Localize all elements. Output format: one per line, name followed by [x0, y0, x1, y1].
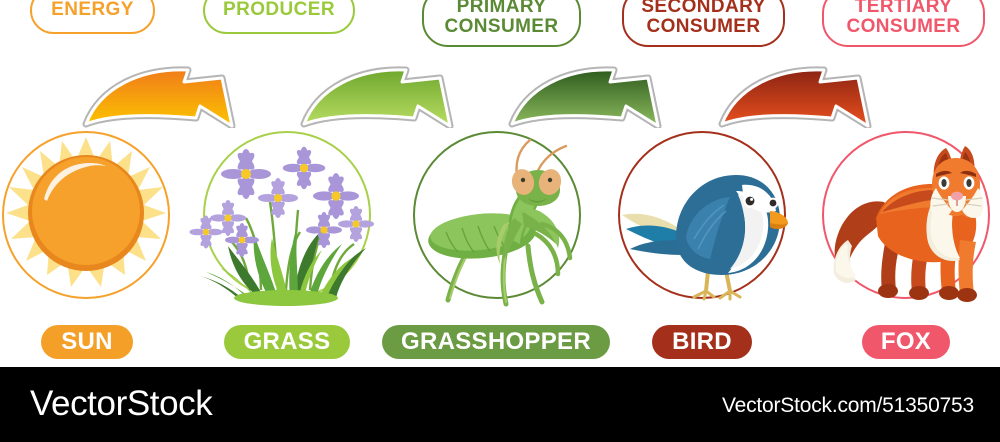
name-pill-label: BIRD — [672, 328, 732, 356]
blue-bird-icon — [618, 145, 790, 301]
role-label-line1: ENERGY — [51, 0, 134, 20]
arrow-grass-to-grasshopper — [300, 66, 475, 128]
watermark-footer: VectorStock VectorStock.com/51350753 — [0, 367, 1000, 442]
role-label-line1: TERTIARY — [846, 0, 960, 17]
name-pill-sun: SUN — [41, 325, 133, 359]
name-pill-label: GRASSHOPPER — [401, 328, 591, 356]
praying-mantis-icon — [410, 138, 590, 308]
watermark-brand: VectorStock — [30, 384, 212, 424]
role-pill-producer: PRODUCER — [203, 0, 355, 34]
watermark-url: VectorStock.com/51350753 — [722, 394, 974, 418]
grass-flowers-icon — [198, 140, 380, 302]
name-pill-label: SUN — [61, 328, 113, 356]
role-pill-secondary-consumer: SECONDARY CONSUMER — [622, 0, 785, 47]
role-label-line2: CONSUMER — [444, 17, 558, 37]
name-pill-label: GRASS — [244, 328, 331, 356]
name-pill-grass: GRASS — [224, 325, 350, 359]
role-label-line2: CONSUMER — [641, 17, 765, 37]
name-pill-bird: BIRD — [652, 325, 752, 359]
arrow-grasshopper-to-bird — [508, 66, 683, 128]
role-pill-primary-consumer: PRIMARY CONSUMER — [422, 0, 581, 47]
role-pill-energy: ENERGY — [30, 0, 155, 34]
arrow-sun-to-grass — [82, 66, 257, 128]
sun-icon — [6, 135, 166, 295]
food-chain-diagram: ENERGY PRODUCER PRIMARY CONSUMER SECONDA… — [0, 0, 1000, 442]
role-label-line1: PRODUCER — [223, 0, 335, 20]
name-pill-grasshopper: GRASSHOPPER — [382, 325, 610, 359]
role-label-line2: CONSUMER — [846, 17, 960, 37]
role-label-line1: PRIMARY — [444, 0, 558, 17]
role-label-line1: SECONDARY — [641, 0, 765, 17]
fox-icon — [824, 140, 992, 302]
role-pill-tertiary-consumer: TERTIARY CONSUMER — [822, 0, 985, 47]
name-pill-label: FOX — [881, 328, 931, 356]
name-pill-fox: FOX — [862, 325, 950, 359]
arrow-bird-to-fox — [718, 66, 893, 128]
